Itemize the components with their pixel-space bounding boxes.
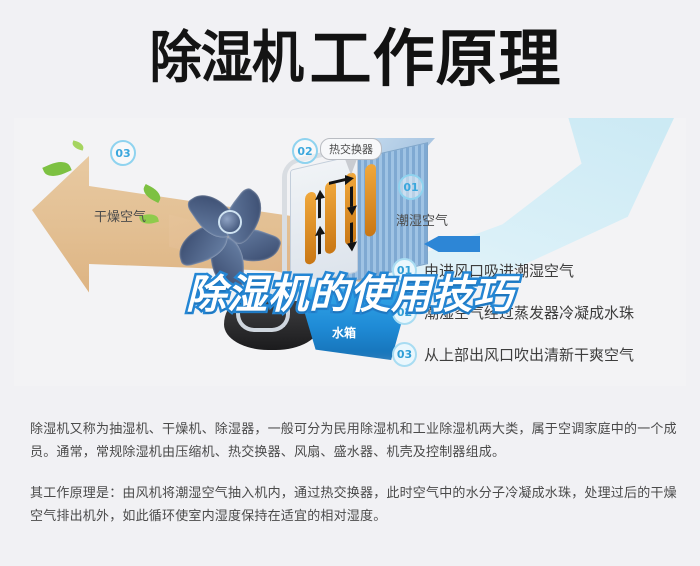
page-title-part1: 除湿机	[150, 31, 303, 87]
page-title-part2: 工作原理	[309, 28, 561, 90]
callout-label-dry-air: 干燥空气	[94, 206, 146, 225]
body-paragraph-2: 其工作原理是：由风机将潮湿空气抽入机内，通过热交换器，此时空气中的水分子冷凝成水…	[30, 482, 678, 528]
callout-badge-dry-air: 03	[110, 140, 136, 166]
callout-label-heat-exchanger: 热交换器	[320, 138, 382, 160]
fan-icon	[174, 166, 282, 274]
step-text: 从上部出风口吹出清新干爽空气	[424, 344, 634, 365]
callout-badge-humid-air: 01	[398, 174, 424, 200]
airflow-arrow-down-icon	[347, 241, 357, 252]
body-copy: 除湿机又称为抽湿机、干燥机、除湿器，一般可分为民用除湿机和工业除湿机两大类，属于…	[30, 418, 678, 546]
callout-badge-heat-exchanger: 02	[292, 138, 318, 164]
airflow-arrow-stem	[350, 186, 353, 207]
step-badge: 03	[392, 342, 417, 367]
body-paragraph-1: 除湿机又称为抽湿机、干燥机、除湿器，一般可分为民用除湿机和工业除湿机两大类，属于…	[30, 418, 678, 464]
airflow-arrow-stem	[350, 222, 353, 243]
page-title: 除湿机 工作原理	[0, 0, 700, 118]
fan-hub	[218, 210, 242, 234]
callout-label-humid-air: 潮湿空气	[396, 210, 448, 229]
poster-page: 除湿机 工作原理	[0, 0, 700, 566]
list-item: 03 从上部出风口吹出清新干爽空气	[392, 342, 692, 367]
refrigerant-coil	[365, 163, 376, 238]
leaf-icon	[71, 140, 85, 150]
water-tank-label: 水箱	[332, 324, 356, 341]
overlay-headline: 除湿机的使用技巧	[0, 262, 700, 320]
